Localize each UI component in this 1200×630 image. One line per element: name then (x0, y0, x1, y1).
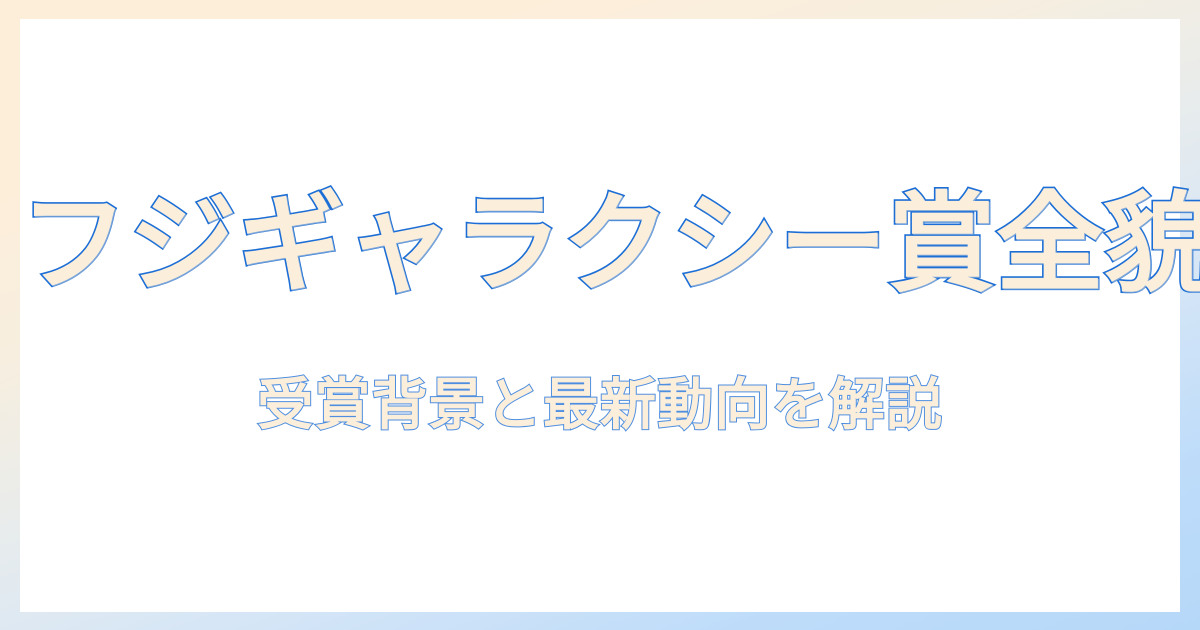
title-banner: フジギャラクシー賞全貌 受賞背景と最新動向を解説 (0, 0, 1200, 630)
page-subtitle: 受賞背景と最新動向を解説 (20, 375, 1180, 437)
banner-card: フジギャラクシー賞全貌 受賞背景と最新動向を解説 (20, 19, 1180, 612)
page-title: フジギャラクシー賞全貌 (20, 188, 1180, 302)
banner-text-stack: フジギャラクシー賞全貌 受賞背景と最新動向を解説 (20, 188, 1180, 436)
